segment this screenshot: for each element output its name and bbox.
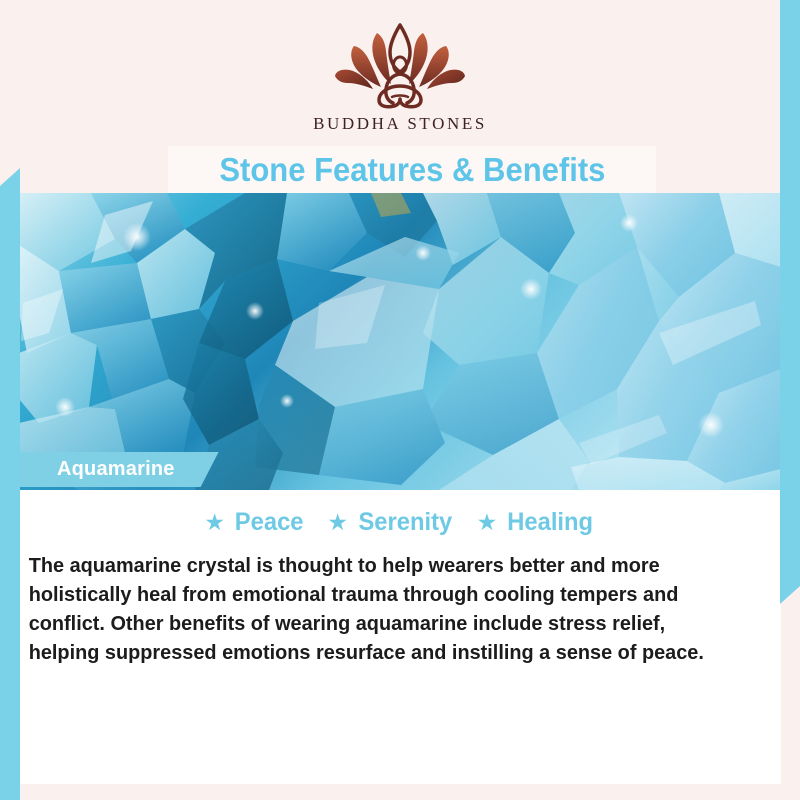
star-icon: ★	[327, 511, 348, 534]
star-icon: ★	[477, 511, 498, 534]
content-panel: ★ Peace ★ Serenity ★ Healing The aquamar…	[19, 490, 781, 700]
keyword-label-serenity: Serenity	[358, 508, 452, 537]
keyword-list: ★ Peace ★ Serenity ★ Healing	[19, 490, 781, 537]
lotus-meditating-figure-logo-icon	[325, 22, 475, 110]
keyword-label-healing: Healing	[508, 508, 594, 537]
accent-bar-top-right	[780, 0, 800, 586]
brand-name: BUDDHA STONES	[0, 114, 800, 134]
stone-name-label: Aquamarine	[57, 458, 175, 481]
content-base-panel	[19, 700, 781, 784]
accent-strip-top	[0, 0, 800, 16]
accent-strip-bottom	[0, 784, 800, 800]
keyword-label-peace: Peace	[235, 508, 304, 537]
page-title-plate: Stone Features & Benefits	[168, 146, 656, 193]
aquamarine-crystal-image	[19, 193, 781, 490]
stone-benefits-poster: BUDDHA STONES Stone Features & Benefits	[0, 0, 800, 800]
brand-block: BUDDHA STONES	[0, 22, 800, 134]
stone-description: The aquamarine crystal is thought to hel…	[19, 537, 758, 667]
star-icon: ★	[204, 511, 225, 534]
keyword-item-serenity: ★ Serenity	[327, 508, 454, 537]
keyword-item-healing: ★ Healing	[477, 508, 596, 537]
hero-image-container	[19, 193, 781, 490]
accent-bar-bottom-left	[0, 186, 20, 800]
page-title: Stone Features & Benefits	[219, 151, 605, 189]
stone-name-badge: Aquamarine	[19, 452, 219, 487]
keyword-item-peace: ★ Peace	[204, 508, 305, 537]
